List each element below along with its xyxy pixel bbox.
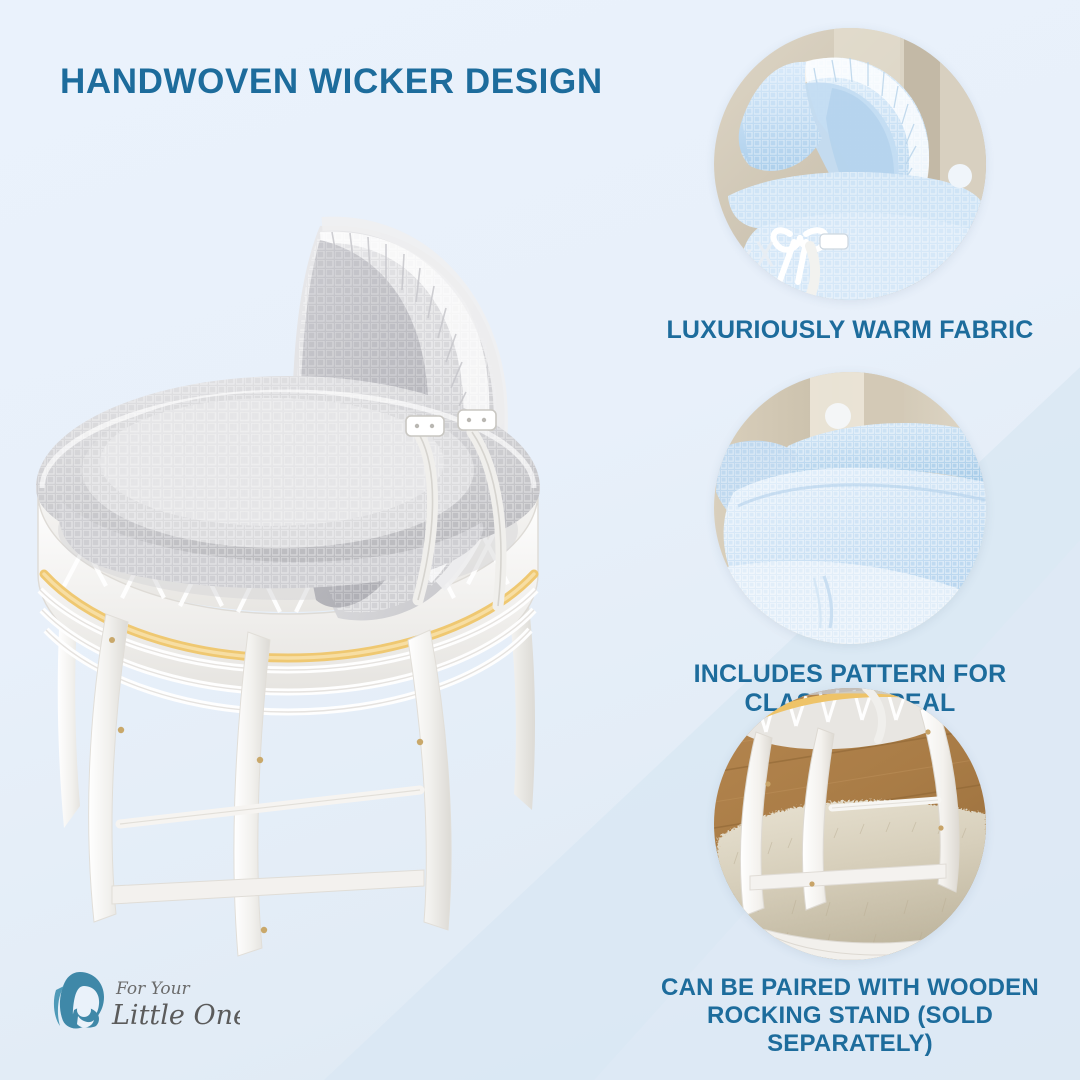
svg-text:For Your: For Your <box>115 979 191 999</box>
feature-image-2 <box>714 372 986 644</box>
feature-block-2: INCLUDES PATTERN FOR CLASSY APPEAL <box>640 372 1060 719</box>
feature-caption-3: CAN BE PAIRED WITH WOODEN ROCKING STAND … <box>640 974 1060 1058</box>
main-product-image <box>20 170 640 970</box>
feature-block-3: CAN BE PAIRED WITH WOODEN ROCKING STAND … <box>640 688 1060 1058</box>
logo-wordmark: For Your Little One <box>111 979 240 1031</box>
feature-image-1 <box>714 28 986 300</box>
feature-image-3 <box>714 688 986 960</box>
svg-text:Little One: Little One <box>111 1000 240 1031</box>
mother-and-baby-icon <box>54 972 104 1029</box>
brand-logo[interactable]: For Your Little One <box>50 966 240 1038</box>
feature-caption-1: LUXURIOUSLY WARM FABRIC <box>640 316 1060 345</box>
feature-block-1: LUXURIOUSLY WARM FABRIC <box>640 28 1060 345</box>
page-title: HANDWOVEN WICKER DESIGN <box>60 62 603 102</box>
